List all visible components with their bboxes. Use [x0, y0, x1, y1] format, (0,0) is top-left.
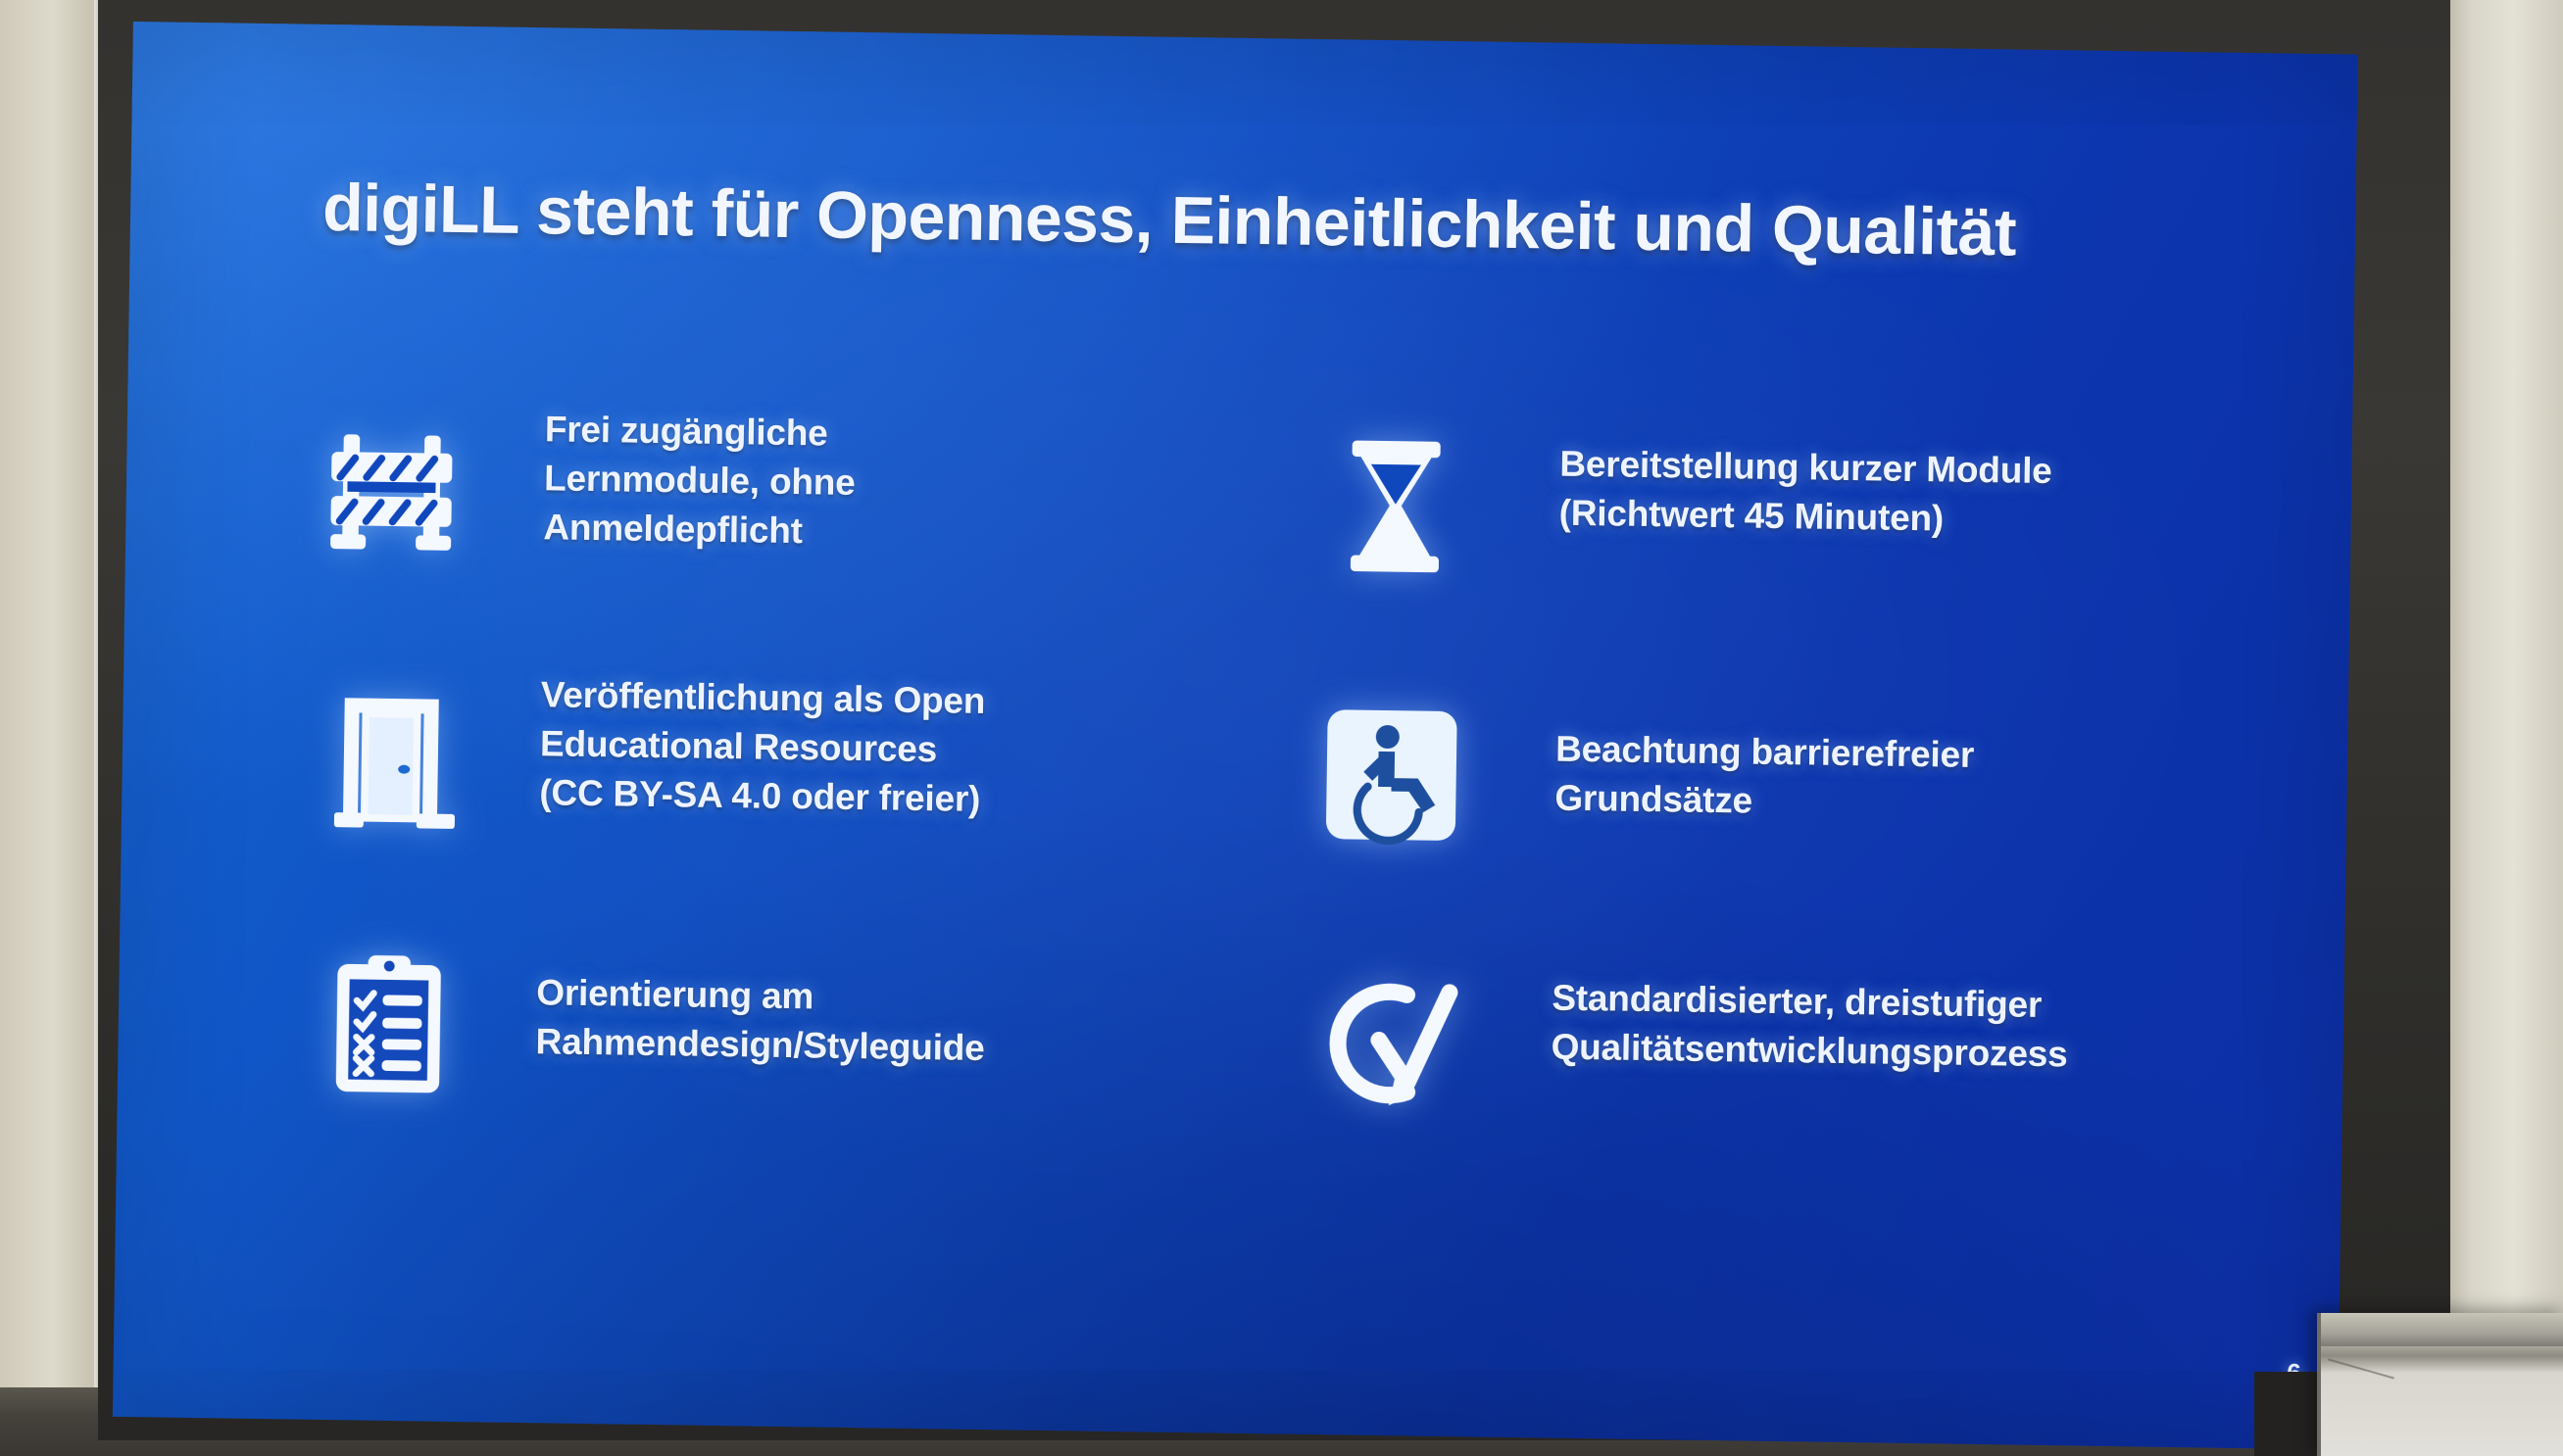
cycle-checkmark-icon	[1283, 941, 1492, 1140]
feature-line: Bereitstellung kurzer Module	[1559, 440, 2052, 496]
hourglass-icon	[1291, 407, 1500, 606]
feature-item-open-access: Frei zugängliche Lernmodule, ohne Anmeld…	[290, 391, 1274, 675]
feature-text: Standardisierter, dreistufiger Qualitäts…	[1551, 945, 2069, 1080]
wheelchair-accessibility-icon	[1287, 676, 1496, 875]
feature-text: Veröffentlichung als Open Educational Re…	[539, 664, 986, 824]
screen-corner-shadow	[2254, 1372, 2323, 1456]
feature-text: Bereitstellung kurzer Module (Richtwert …	[1558, 411, 2052, 545]
feature-line: Anmeldepflicht	[543, 503, 855, 557]
photographed-presentation-screen: digiLL steht für Openness, Einheitlichke…	[0, 0, 2563, 1456]
feature-grid: Frei zugängliche Lernmodule, ohne Anmeld…	[282, 391, 2274, 1209]
barrier-icon	[291, 391, 500, 590]
clipboard-checklist-icon	[283, 925, 492, 1124]
feature-line: Veröffentlichung als Open	[540, 670, 985, 726]
feature-item-accessibility: Beachtung barrierefreier Grundsätze	[1286, 676, 2270, 955]
feature-line: Standardisierter, dreistufiger	[1552, 974, 2069, 1031]
feature-text: Frei zugängliche Lernmodule, ohne Anmeld…	[543, 395, 857, 557]
whiteboard-tray	[2321, 1313, 2563, 1346]
feature-line: Qualitätsentwicklungsprozess	[1551, 1023, 2068, 1080]
feature-line: Lernmodule, ohne	[544, 454, 856, 508]
feature-item-oer-license: Veröffentlichung als Open Educational Re…	[286, 660, 1270, 940]
feature-text: Orientierung am Rahmendesign/Styleguide	[535, 929, 986, 1073]
whiteboard-occluder	[2317, 1313, 2563, 1456]
feature-item-styleguide: Orientierung am Rahmendesign/Styleguide	[282, 925, 1266, 1194]
feature-line: (CC BY-SA 4.0 oder freier)	[539, 768, 984, 824]
room-wall-right	[2440, 0, 2563, 1456]
feature-line: Grundsätze	[1554, 774, 1974, 829]
feature-item-quality-process: Standardisierter, dreistufiger Qualitäts…	[1282, 941, 2266, 1210]
feature-line: Educational Resources	[540, 719, 985, 775]
feature-item-short-modules: Bereitstellung kurzer Module (Richtwert …	[1290, 407, 2274, 691]
open-door-icon	[287, 660, 496, 859]
whiteboard-crease	[2328, 1358, 2394, 1379]
feature-line: Frei zugängliche	[545, 405, 857, 459]
feature-line: Orientierung am	[536, 968, 986, 1024]
feature-text: Beachtung barrierefreier Grundsätze	[1554, 680, 1975, 829]
feature-line: Rahmendesign/Styleguide	[535, 1017, 985, 1073]
feature-line: (Richtwert 45 Minuten)	[1558, 489, 2051, 545]
feature-line: Beachtung barrierefreier	[1555, 725, 1975, 780]
slide-surface: digiLL steht für Openness, Einheitlichke…	[113, 22, 2358, 1450]
